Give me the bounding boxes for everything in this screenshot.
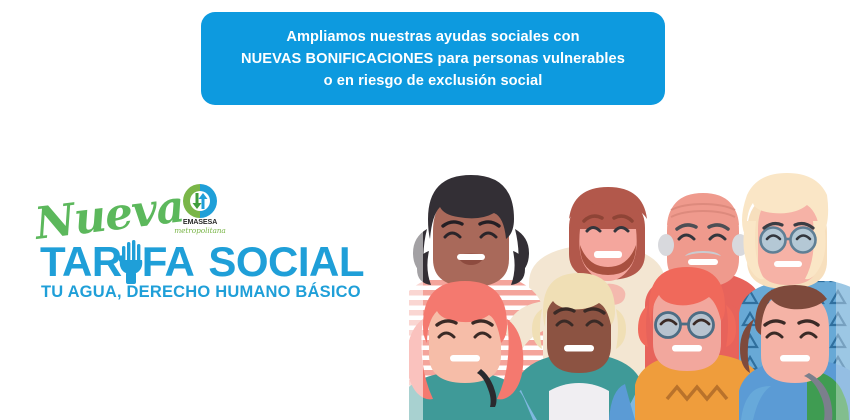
campaign-logo-lockup: Nueva TAR FA SOCIAL <box>38 203 378 303</box>
banner-line-3: o en riesgo de exclusión social <box>324 70 543 92</box>
raised-hand-icon <box>121 242 143 282</box>
campaign-title-part-2: FA <box>142 241 195 283</box>
announcement-banner: Ampliamos nuestras ayudas sociales con N… <box>201 12 665 105</box>
campaign-title-row: TAR FA SOCIAL <box>40 241 370 283</box>
campaign-subtitle: TU AGUA, DERECHO HUMANO BÁSICO <box>41 283 361 302</box>
campaign-title-social: SOCIAL <box>208 241 364 283</box>
banner-line-2: NUEVAS BONIFICACIONES para personas vuln… <box>241 48 625 70</box>
campaign-poster: Ampliamos nuestras ayudas sociales con N… <box>0 0 850 420</box>
banner-line-1: Ampliamos nuestras ayudas sociales con <box>286 26 579 48</box>
campaign-title-part-1: TAR <box>40 241 122 283</box>
group-of-people-illustration <box>409 133 850 420</box>
